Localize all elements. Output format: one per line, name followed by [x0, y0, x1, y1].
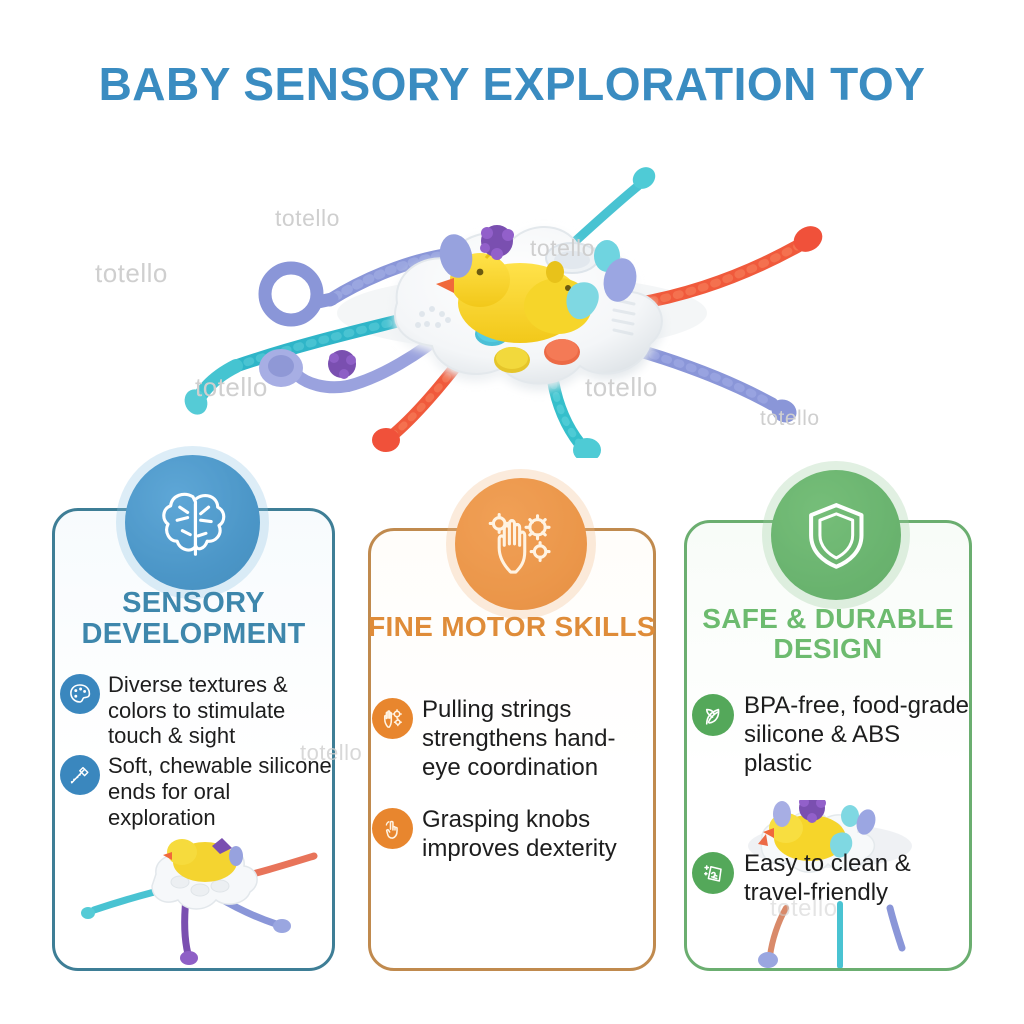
badge-sensory-development [125, 455, 260, 590]
bullet-item: Easy to clean & travel-friendly [692, 850, 974, 908]
sparkle-cloth-icon [692, 852, 734, 894]
badge-fine-motor-skills [455, 478, 587, 610]
palette-icon [60, 674, 100, 714]
card1-bullets: Diverse textures & colors to stimulate t… [60, 672, 335, 830]
bullet-text: Pulling strings strengthens hand-eye coo… [422, 696, 654, 782]
benefit-cards: SENSORY DEVELOPMENT FINE MOTOR SKILLS SA… [0, 0, 1024, 1024]
bullet-text: BPA-free, food-grade silicone & ABS plas… [744, 692, 974, 778]
bullet-item: Pulling strings strengthens hand-eye coo… [372, 696, 654, 782]
bullet-item: Diverse textures & colors to stimulate t… [60, 672, 335, 749]
bullet-item: BPA-free, food-grade silicone & ABS plas… [692, 692, 974, 778]
bullet-text: Easy to clean & travel-friendly [744, 850, 974, 908]
teether-icon [60, 755, 100, 795]
bullet-text: Grasping knobs improves dexterity [422, 806, 654, 864]
card3-heading: SAFE & DURABLE DESIGN [681, 604, 975, 664]
hand-gears-icon [372, 698, 413, 739]
bullet-item: Soft, chewable silicone ends for oral ex… [60, 753, 335, 830]
card2-heading: FINE MOTOR SKILLS [368, 612, 656, 642]
bullet-item: Grasping knobs improves dexterity [372, 806, 654, 864]
shield-icon [796, 495, 877, 576]
pointing-hand-icon [372, 808, 413, 849]
card1-product-thumbnail [60, 838, 330, 966]
brain-icon [151, 481, 235, 565]
badge-safe-durable-design [771, 470, 901, 600]
card2-bullets: Pulling strings strengthens hand-eye coo… [372, 696, 654, 868]
bullet-text: Soft, chewable silicone ends for oral ex… [108, 753, 335, 830]
infographic-canvas: BABY SENSORY EXPLORATION TOY [0, 0, 1024, 1024]
hand-gears-icon [480, 503, 562, 585]
card3-bullets: BPA-free, food-grade silicone & ABS plas… [692, 692, 974, 912]
bullet-text: Diverse textures & colors to stimulate t… [108, 672, 335, 749]
card1-heading: SENSORY DEVELOPMENT [52, 588, 335, 650]
leaf-icon [692, 694, 734, 736]
